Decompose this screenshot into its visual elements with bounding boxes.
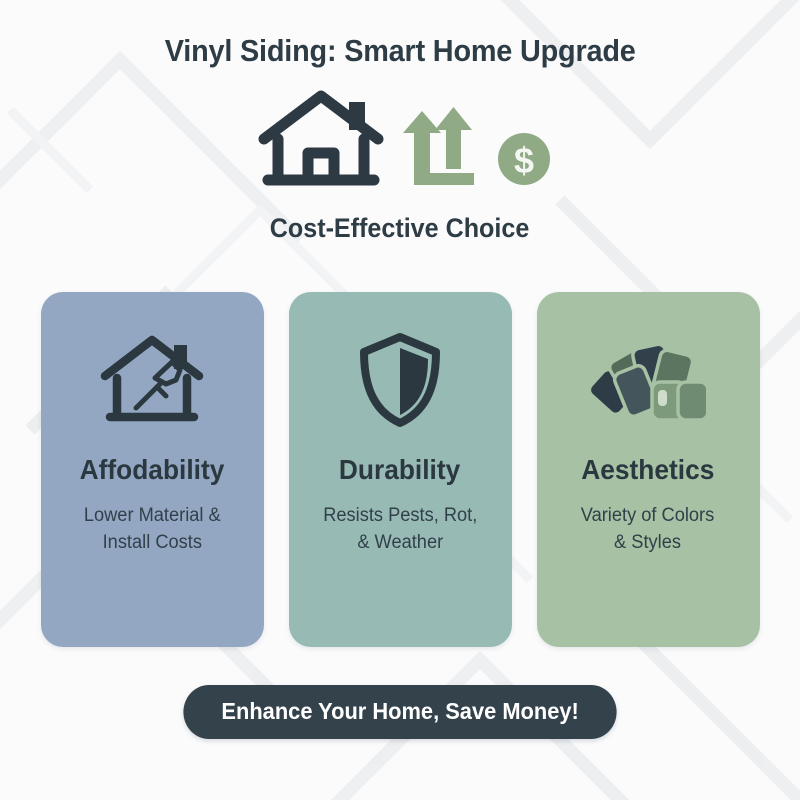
call-to-action-banner[interactable]: Enhance Your Home, Save Money! <box>183 685 616 739</box>
card-body-line1: Resists Pests, Rot, <box>323 503 477 530</box>
card-title: Affodability <box>80 454 225 486</box>
card-icon-wrapper <box>590 328 706 432</box>
page-subtitle: Cost-Effective Choice <box>270 213 530 244</box>
rising-arrows-icon <box>400 107 480 187</box>
card-icon-wrapper <box>358 328 442 432</box>
card-body-line2: & Styles <box>581 530 714 557</box>
feature-card-list: Affodability Lower Material & Install Co… <box>41 292 760 647</box>
svg-text:$: $ <box>514 140 534 181</box>
card-body-line2: Install Costs <box>84 530 221 557</box>
card-title: Aesthetics <box>581 454 714 486</box>
dollar-coin-icon: $ <box>496 131 552 187</box>
card-body-line2: & Weather <box>323 530 477 557</box>
shield-icon <box>358 332 442 428</box>
card-title: Durability <box>339 454 460 486</box>
house-hammer-icon <box>100 334 204 426</box>
house-icon <box>258 87 384 187</box>
feature-card-durability[interactable]: Durability Resists Pests, Rot, & Weather <box>289 292 512 647</box>
page-title: Vinyl Siding: Smart Home Upgrade <box>165 33 636 69</box>
hero-icon-group: $ <box>248 83 552 187</box>
card-body-line1: Lower Material & <box>84 503 221 530</box>
card-body: Resists Pests, Rot, & Weather <box>310 503 491 557</box>
infographic-canvas: Vinyl Siding: Smart Home Upgrade <box>0 0 800 800</box>
card-body-line1: Variety of Colors <box>581 503 714 530</box>
color-swatch-fan-icon <box>590 334 706 426</box>
card-body: Variety of Colors & Styles <box>568 503 728 557</box>
card-body: Lower Material & Install Costs <box>70 503 234 557</box>
card-icon-wrapper <box>100 328 204 432</box>
feature-card-affodability[interactable]: Affodability Lower Material & Install Co… <box>41 292 264 647</box>
feature-card-aesthetics[interactable]: Aesthetics Variety of Colors & Styles <box>537 292 760 647</box>
